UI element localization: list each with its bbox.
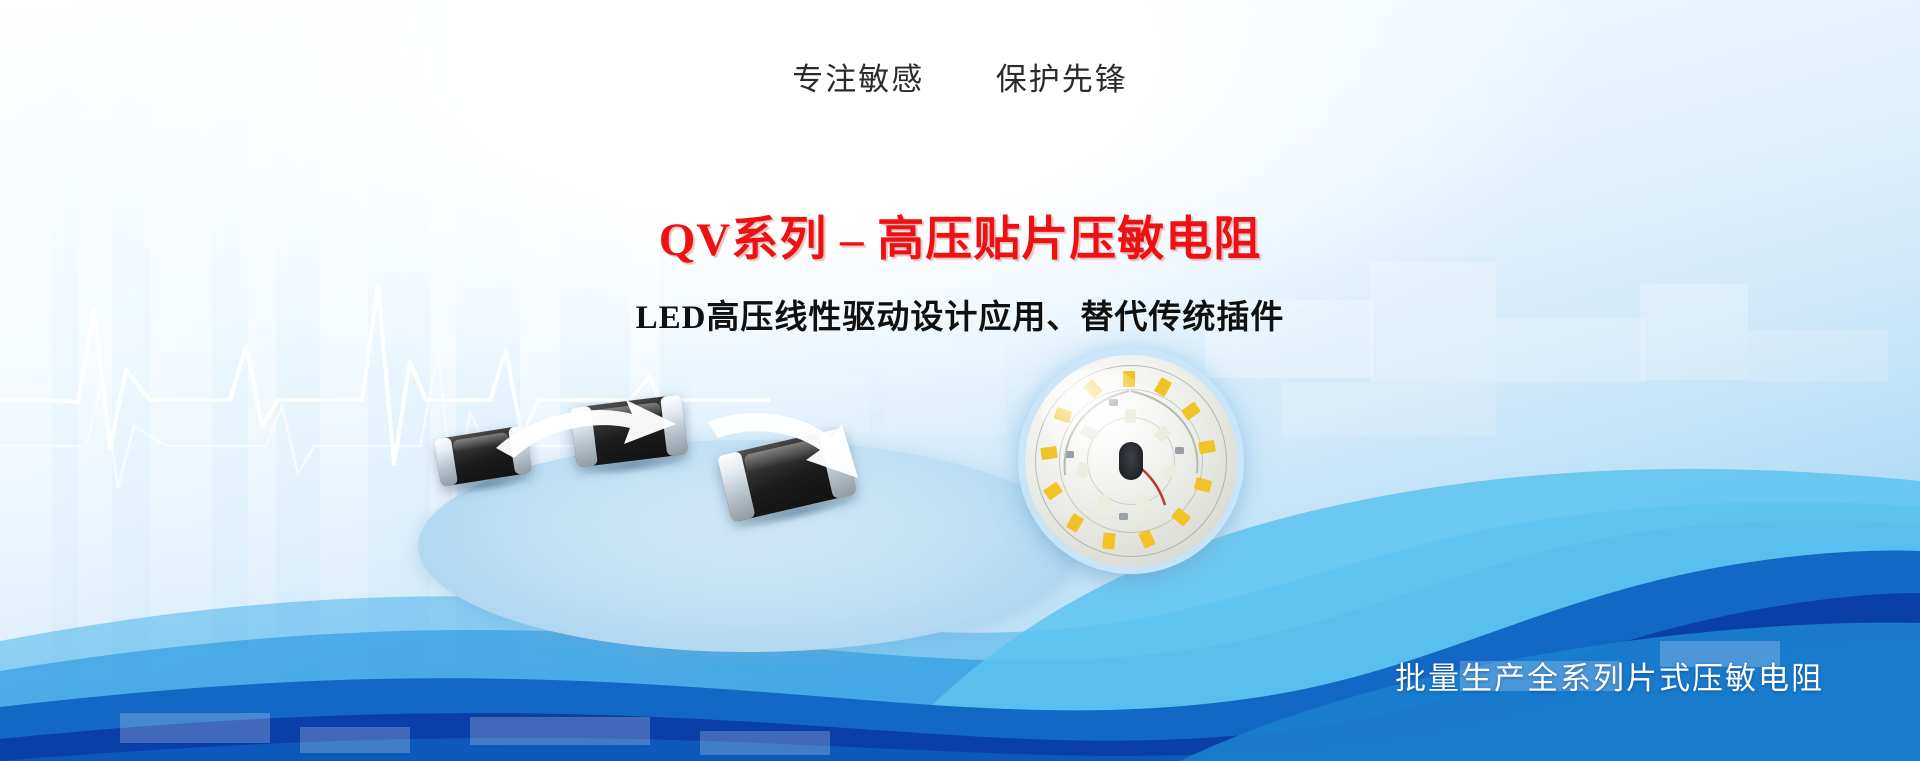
curved-arrow-2 [708,413,858,478]
tagline-right: 保护先锋 [996,62,1128,97]
banner-tagline: 专注敏感 保护先锋 [0,54,1920,99]
page-subtitle: LED高压线性驱动设计应用、替代传统插件 [0,290,1920,338]
curved-arrows-group [418,400,1078,580]
curved-arrow-1 [496,400,676,458]
tagline-left: 专注敏感 [792,62,924,97]
product-banner: 专注敏感 保护先锋 QV系列 – 高压贴片压敏电阻 LED高压线性驱动设计应用、… [0,0,1920,761]
circular-led-pcb-module [1025,355,1237,567]
page-title: QV系列 – 高压贴片压敏电阻 [0,200,1920,269]
bottom-caption: 批量生产全系列片式压敏电阻 [1395,653,1824,698]
